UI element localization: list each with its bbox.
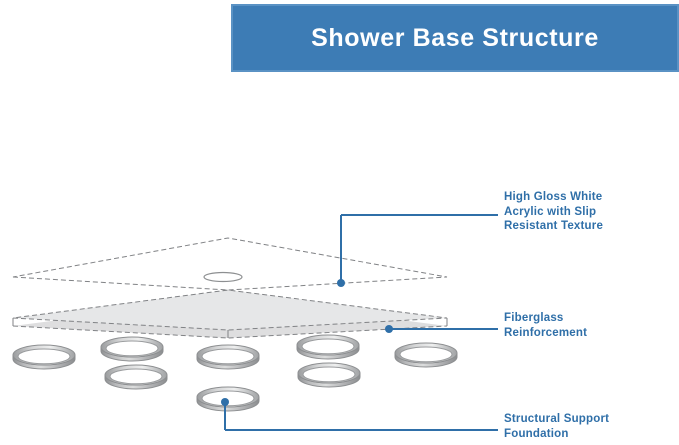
callout-label-support: Structural Support Foundation xyxy=(504,412,609,441)
callout-line: Reinforcement xyxy=(504,326,587,341)
leader-dot-fiberglass xyxy=(385,325,393,333)
callout-line: Fiberglass xyxy=(504,311,587,326)
leader-dot-acrylic xyxy=(337,279,345,287)
support-cylinder xyxy=(297,335,359,359)
callout-line: Acrylic with Slip xyxy=(504,205,603,220)
callout-label-fiberglass: Fiberglass Reinforcement xyxy=(504,311,587,340)
drain-opening-icon xyxy=(204,273,242,282)
leader-dot-support xyxy=(221,398,229,406)
support-cylinder xyxy=(197,345,259,369)
callout-label-acrylic: High Gloss White Acrylic with Slip Resis… xyxy=(504,190,603,234)
callout-line: Resistant Texture xyxy=(504,219,603,234)
diagram-root: Shower Base Structure xyxy=(0,0,679,445)
support-cylinder xyxy=(298,363,360,387)
support-cylinder xyxy=(101,337,163,361)
support-cylinder-group xyxy=(13,335,457,411)
callout-line: Foundation xyxy=(504,427,609,442)
top-acrylic-plate xyxy=(13,238,447,290)
leader-line-support xyxy=(221,398,498,430)
fiberglass-plate xyxy=(13,290,447,338)
callout-line: Structural Support xyxy=(504,412,609,427)
support-cylinder xyxy=(395,343,457,367)
callout-line: High Gloss White xyxy=(504,190,603,205)
support-cylinder-callout-target xyxy=(197,387,259,411)
support-cylinder xyxy=(105,365,167,389)
support-cylinder xyxy=(13,345,75,369)
leader-line-acrylic xyxy=(337,215,498,287)
